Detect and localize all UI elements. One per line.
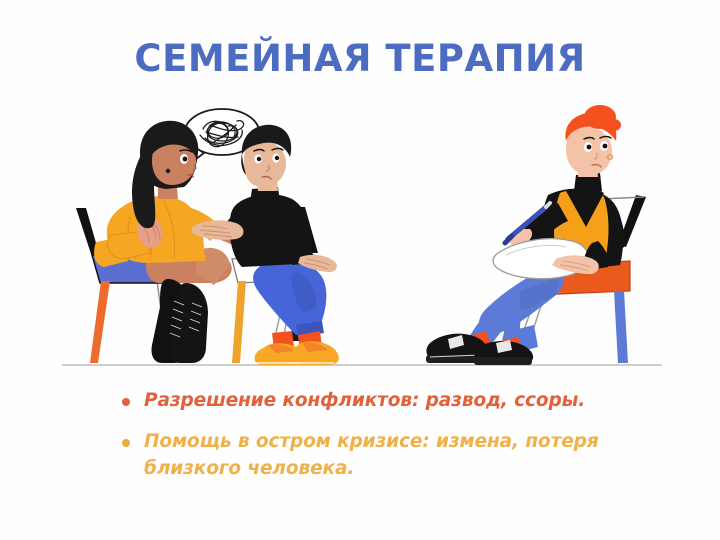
bullet-dot-icon — [122, 439, 130, 447]
woman-boots — [151, 279, 208, 363]
man-sneakers — [255, 341, 339, 365]
page-title: СЕМЕЙНАЯ ТЕРАПИЯ — [0, 40, 720, 79]
bullet-text: Помощь в остром кризисе: измена, потеря … — [144, 429, 642, 483]
bullet-dot-icon — [122, 398, 130, 406]
avito-watermark: Avito — [607, 506, 706, 532]
list-item: Разрешение конфликтов: развод, ссоры. — [122, 388, 642, 415]
list-item: Помощь в остром кризисе: измена, потеря … — [122, 429, 642, 483]
slide-canvas: СЕМЕЙНАЯ ТЕРАПИЯ — [0, 0, 720, 540]
therapist-chair-rear-leg — [614, 291, 628, 363]
woman-client — [76, 121, 246, 363]
man-chair-front-leg — [232, 281, 246, 363]
avito-circles-icon — [607, 506, 633, 532]
bullet-list: Разрешение конфликтов: развод, ссоры. По… — [122, 388, 642, 496]
family-therapy-session-illustration — [0, 95, 720, 380]
man-face — [244, 140, 286, 187]
man-client — [192, 125, 339, 365]
woman-chair-front-leg — [90, 281, 110, 363]
bullet-text: Разрешение конфликтов: развод, ссоры. — [144, 388, 585, 415]
therapist — [426, 105, 646, 365]
avito-watermark-label: Avito — [637, 507, 706, 532]
